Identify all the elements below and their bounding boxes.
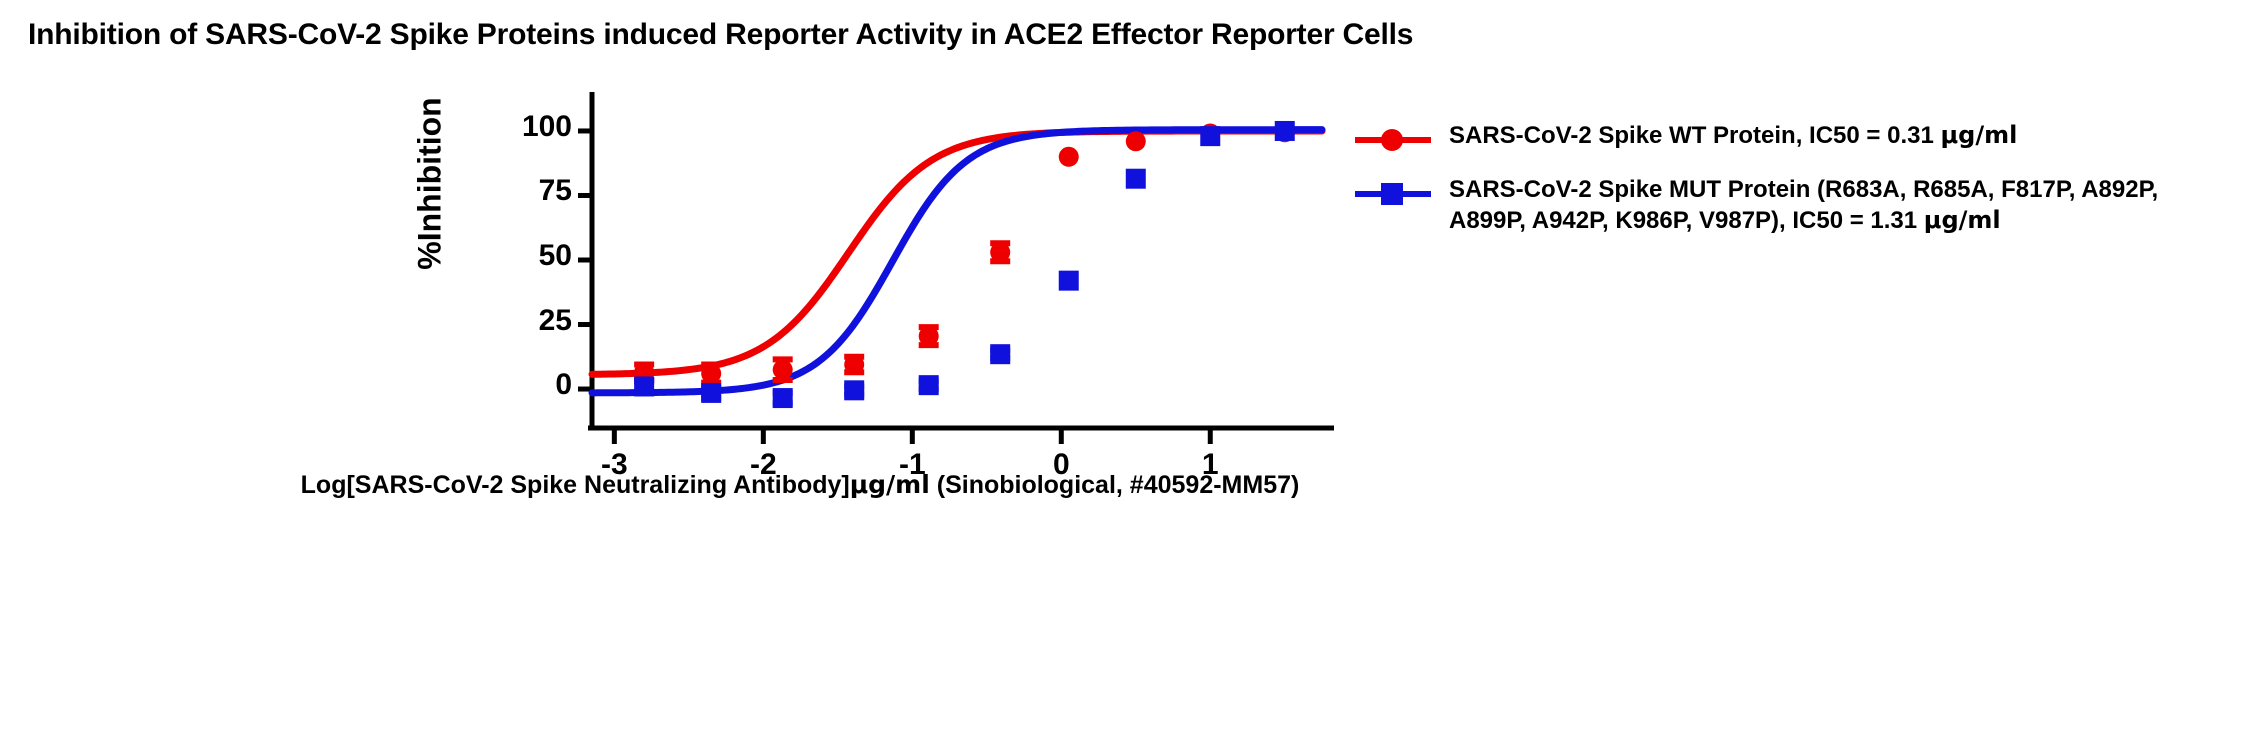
legend-key-wt <box>1355 124 1431 154</box>
x-tick-label-0: 0 <box>1011 448 1111 482</box>
y-tick-label-0: 0 <box>472 368 572 402</box>
legend-label-mut-unit: μg/ml <box>1924 206 2001 234</box>
x-tick-label--1: -1 <box>862 448 962 482</box>
data-point-mut-2 <box>773 388 793 408</box>
data-point-wt-7 <box>1126 131 1146 151</box>
y-tick-label-50: 50 <box>472 239 572 273</box>
legend-key-mut <box>1355 178 1431 208</box>
x-tick-label--3: -3 <box>564 448 664 482</box>
data-point-mut-5 <box>990 344 1010 364</box>
legend-label-mut-line2: A899P, A942P, K986P, V987P), IC50 = 1.31… <box>1449 205 2158 236</box>
y-tick-label-25: 25 <box>472 304 572 338</box>
legend-label-wt-text: SARS-CoV-2 Spike WT Protein, IC50 = 0.31 <box>1449 122 1940 149</box>
data-point-mut-1 <box>701 383 721 403</box>
data-point-mut-4 <box>919 375 939 395</box>
square-marker-icon <box>1381 183 1403 205</box>
data-point-wt-1 <box>701 364 721 384</box>
legend-label-mut-line1: SARS-CoV-2 Spike MUT Protein (R683A, R68… <box>1449 174 2158 205</box>
data-point-mut-3 <box>844 380 864 400</box>
legend-item-mut[interactable]: SARS-CoV-2 Spike MUT Protein (R683A, R68… <box>1355 174 2225 236</box>
data-point-mut-6 <box>1059 271 1079 291</box>
y-tick-label-75: 75 <box>472 174 572 208</box>
legend-label-wt-unit: μg/ml <box>1940 121 2017 149</box>
circle-marker-icon <box>1381 129 1403 151</box>
legend-label-mut: SARS-CoV-2 Spike MUT Protein (R683A, R68… <box>1449 174 2158 236</box>
data-point-wt-6 <box>1059 147 1079 167</box>
data-point-wt-2 <box>773 360 793 380</box>
legend: SARS-CoV-2 Spike WT Protein, IC50 = 0.31… <box>1355 120 2225 256</box>
y-tick-label-100: 100 <box>472 110 572 144</box>
data-point-wt-3 <box>844 355 864 375</box>
x-tick-label--2: -2 <box>713 448 813 482</box>
curve-mut <box>592 130 1322 393</box>
legend-label-wt: SARS-CoV-2 Spike WT Protein, IC50 = 0.31… <box>1449 120 2017 151</box>
x-tick-label-1: 1 <box>1160 448 1260 482</box>
data-point-wt-5 <box>990 242 1010 262</box>
data-point-wt-4 <box>919 326 939 346</box>
data-point-mut-7 <box>1126 169 1146 189</box>
legend-label-mut-line2-text: A899P, A942P, K986P, V987P), IC50 = 1.31 <box>1449 207 1924 234</box>
y-axis-title: %Inhibition <box>412 54 449 314</box>
data-point-mut-8 <box>1200 126 1220 146</box>
figure-root: Inhibition of SARS-CoV-2 Spike Proteins … <box>0 0 2244 750</box>
legend-item-wt[interactable]: SARS-CoV-2 Spike WT Protein, IC50 = 0.31… <box>1355 120 2225 154</box>
data-point-mut-0 <box>634 376 654 396</box>
data-point-mut-9 <box>1275 121 1295 141</box>
